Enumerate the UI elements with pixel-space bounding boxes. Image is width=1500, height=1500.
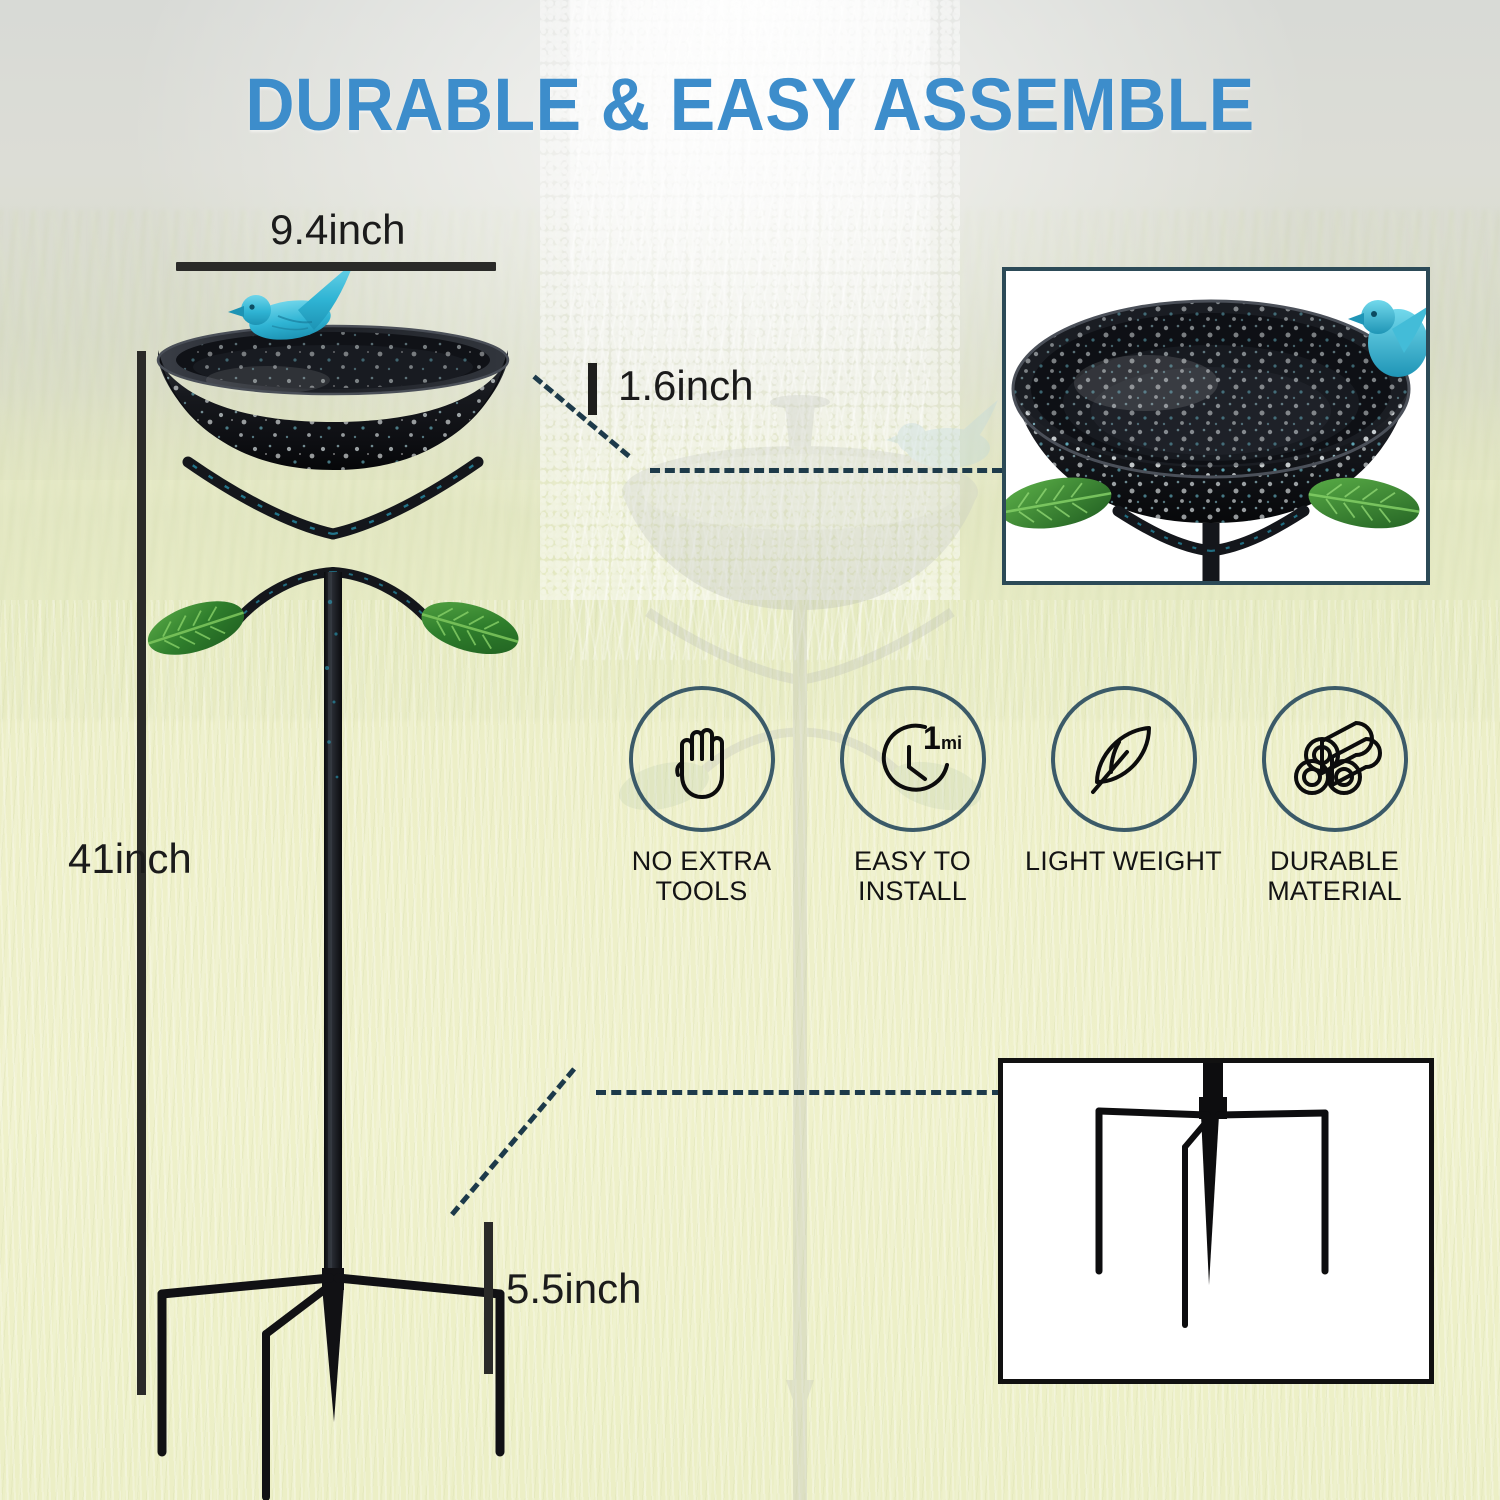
page-title: DURABLE & EASY ASSEMBLE — [60, 62, 1440, 147]
feature-label: LIGHT WEIGHT — [1025, 846, 1222, 876]
stake-length-line — [484, 1222, 493, 1374]
leader-line-stake-to-inset — [596, 1090, 1002, 1095]
feature-label: NO EXTRA TOOLS — [632, 846, 772, 906]
product-ghost-illustration — [600, 380, 1000, 1500]
feather-icon — [1077, 712, 1171, 806]
hand-icon — [656, 713, 748, 805]
pipes-icon — [1286, 713, 1384, 805]
feature-circle — [1262, 686, 1408, 832]
feature-no-extra-tools: NO EXTRA TOOLS — [596, 686, 807, 936]
clock-badge-value: 1 — [923, 720, 941, 756]
bowl-graphic — [158, 326, 508, 470]
clock-icon: 1 min — [863, 713, 963, 805]
inset-bowl-closeup — [1002, 267, 1430, 585]
product-main-illustration — [148, 272, 568, 1432]
feature-label: EASY TO INSTALL — [854, 846, 971, 906]
feature-label: DURABLE MATERIAL — [1267, 846, 1402, 906]
bowl-depth-line — [588, 363, 597, 415]
feature-durable-material: DURABLE MATERIAL — [1229, 686, 1440, 936]
total-height-label: 41inch — [68, 835, 192, 883]
stake-length-label: 5.5inch — [506, 1265, 641, 1313]
feature-light-weight: LIGHT WEIGHT — [1018, 686, 1229, 936]
inset-stake-closeup — [998, 1058, 1434, 1384]
bowl-depth-label: 1.6inch — [618, 362, 753, 410]
feature-circle — [1051, 686, 1197, 832]
bowl-diameter-line — [176, 262, 496, 271]
leader-line-bowl-to-inset — [650, 468, 1002, 473]
clock-badge-unit: min — [941, 733, 963, 753]
feature-circle — [629, 686, 775, 832]
pole-graphic — [324, 572, 342, 1272]
feature-circle: 1 min — [840, 686, 986, 832]
feature-list: NO EXTRA TOOLS 1 min EASY TO INSTALL — [596, 686, 1442, 936]
bowl-diameter-label: 9.4inch — [270, 206, 405, 254]
feature-easy-to-install: 1 min EASY TO INSTALL — [807, 686, 1018, 936]
